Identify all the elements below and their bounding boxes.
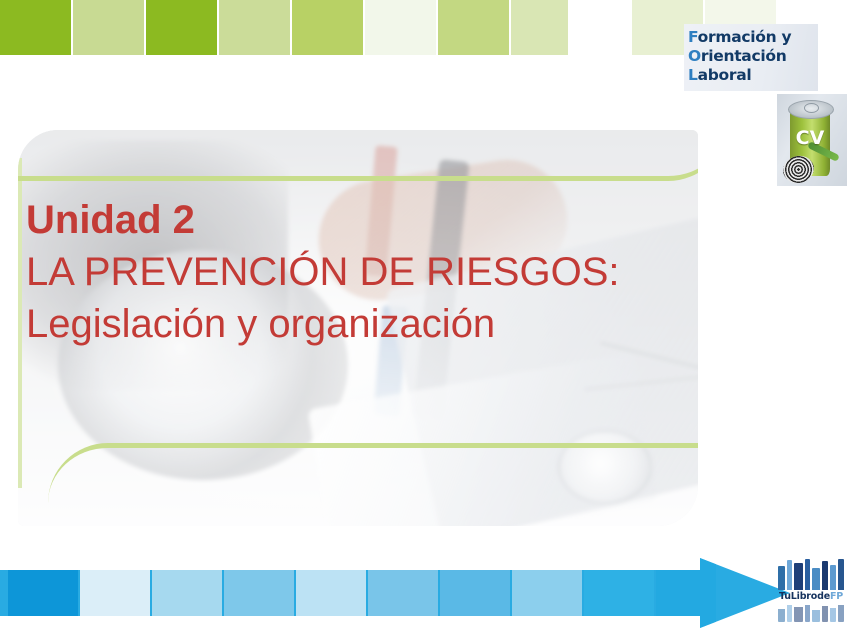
slide-canvas: Formación y Orientación Laboral CV (0, 0, 848, 636)
title-main-label: LA PREVENCIÓN DE RIESGOS: Legislación y … (26, 246, 646, 350)
header-block-5 (365, 0, 436, 55)
fol-rest-3: aboral (698, 66, 752, 84)
tulibrodefp-name: TuLibrodeFP (776, 591, 846, 602)
can-pull-ring-icon (804, 103, 819, 113)
footer-block-0 (8, 558, 78, 628)
footer-block-7 (512, 558, 582, 628)
book-bar-reflection-0 (778, 609, 785, 622)
cv-can-image: CV (777, 94, 847, 186)
arrow-graphic (0, 564, 790, 622)
book-bar-reflection-6 (830, 608, 837, 622)
book-bar-2 (794, 563, 803, 590)
book-bar-1 (787, 560, 793, 590)
fol-logo: Formación y Orientación Laboral CV (684, 18, 848, 188)
footer-block-2 (152, 558, 222, 628)
tulibrodefp-suffix: FP (830, 591, 843, 602)
photo-frame-left-edge (18, 158, 22, 488)
footer-block-6 (440, 558, 510, 628)
tulibrodefp-books-icon (778, 558, 844, 590)
book-bar-6 (830, 565, 837, 590)
tulibrodefp-books-reflection-icon (778, 604, 844, 622)
book-bar-5 (822, 561, 828, 590)
header-block-2 (146, 0, 217, 55)
header-block-1 (73, 0, 144, 55)
fol-cap-f: F (688, 28, 698, 46)
book-bar-reflection-1 (787, 605, 793, 622)
footer-block-8 (584, 558, 654, 628)
book-bar-7 (838, 559, 844, 590)
book-bar-0 (778, 566, 785, 590)
fol-rest-1: ormación y (698, 28, 792, 46)
book-bar-reflection-7 (838, 605, 844, 622)
book-bar-reflection-3 (805, 605, 811, 622)
book-bar-reflection-2 (794, 607, 803, 622)
fol-cap-l: L (688, 66, 698, 84)
title-unit-label: Unidad 2 (26, 194, 646, 246)
fol-line-3: Laboral (688, 66, 814, 85)
page-title: Unidad 2 LA PREVENCIÓN DE RIESGOS: Legis… (26, 194, 646, 350)
book-bar-3 (805, 559, 811, 590)
header-block-0 (0, 0, 71, 55)
footer-block-3 (224, 558, 294, 628)
book-bar-reflection-5 (822, 606, 828, 622)
footer-block-9 (656, 558, 716, 628)
fol-line-1: Formación y (688, 28, 814, 47)
header-block-7 (511, 0, 568, 55)
footer-arrow-bar (0, 564, 848, 622)
book-bar-4 (812, 568, 820, 590)
fol-logo-text: Formación y Orientación Laboral (684, 24, 818, 91)
right-arrow-icon (0, 558, 790, 628)
header-block-6 (438, 0, 509, 55)
fol-cap-o: O (688, 47, 701, 65)
header-block-3 (219, 0, 290, 55)
footer-block-5 (368, 558, 438, 628)
footer-block-4 (296, 558, 366, 628)
footer-block-1 (80, 558, 150, 628)
header-block-4 (292, 0, 363, 55)
can-cv-label: CV (791, 127, 829, 149)
fol-line-2: Orientación (688, 47, 814, 66)
fol-rest-2: rientación (701, 47, 787, 65)
tulibrodefp-prefix: TuLibrode (779, 591, 830, 602)
book-bar-reflection-4 (812, 610, 820, 622)
tulibrodefp-logo: TuLibrodeFP (776, 558, 846, 624)
